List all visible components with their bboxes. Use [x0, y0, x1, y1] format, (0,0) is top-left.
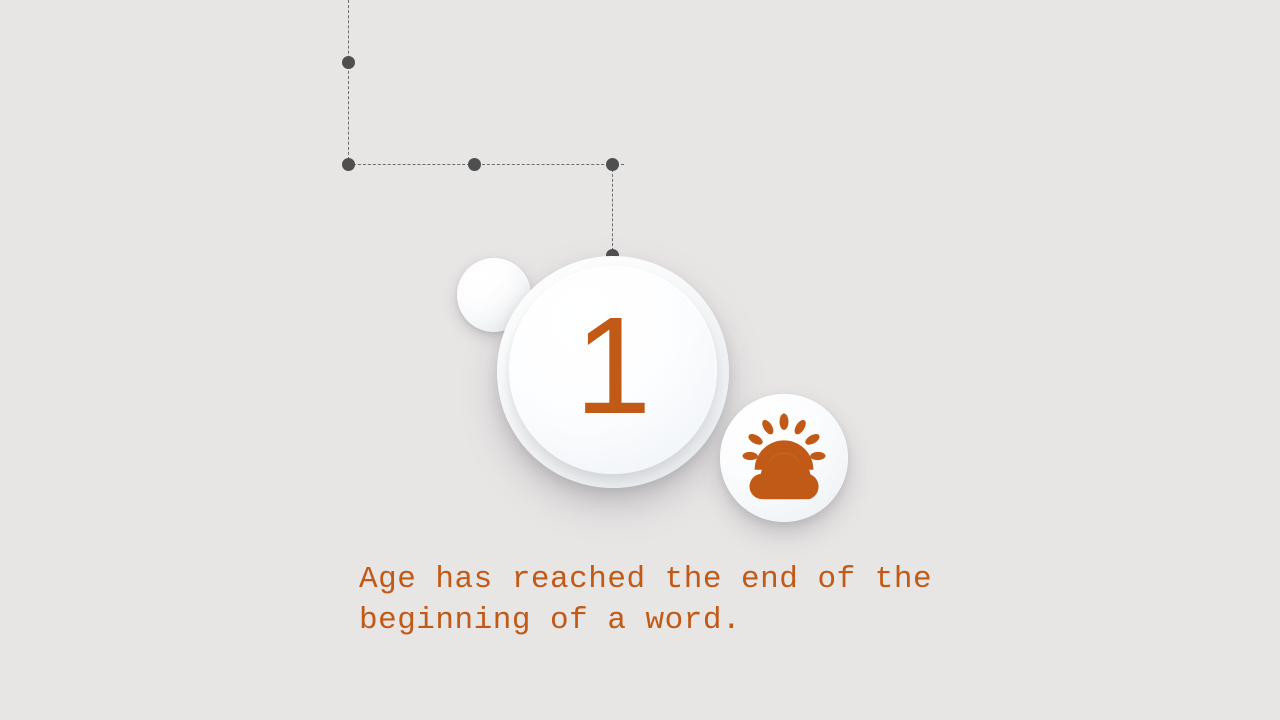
- connector-dot-branch: [606, 158, 619, 171]
- connector-dot-corner: [342, 158, 355, 171]
- badge-inner-face: 1: [509, 266, 717, 474]
- step-number-badge[interactable]: 1: [497, 256, 729, 488]
- slide-caption: Age has reached the end of the beginning…: [359, 559, 979, 641]
- connector-horizontal: [348, 164, 624, 165]
- connector-dot-top: [342, 56, 355, 69]
- connector-vertical-top: [348, 0, 349, 165]
- connector-dot-middle: [468, 158, 481, 171]
- sun-behind-cloud-icon: [735, 409, 833, 507]
- connector-vertical-branch: [612, 164, 613, 256]
- weather-icon-badge[interactable]: [720, 394, 848, 522]
- slide-canvas: 1: [0, 0, 1280, 720]
- badge-number-label: 1: [575, 297, 652, 435]
